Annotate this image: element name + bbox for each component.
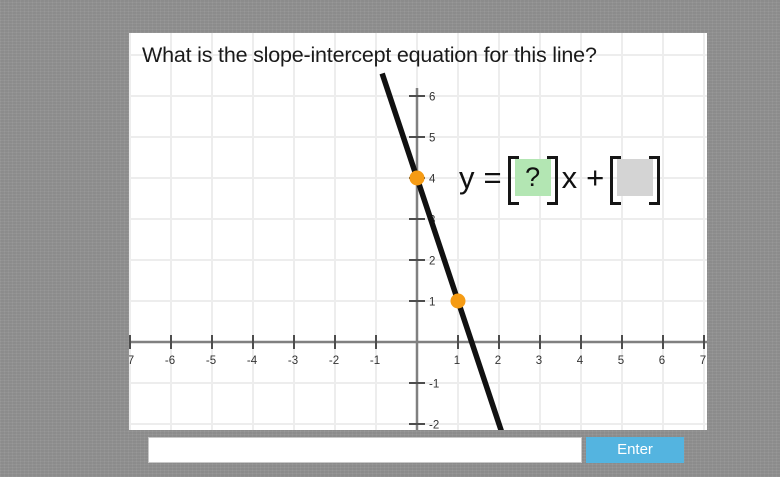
svg-text:6: 6 [659, 355, 665, 367]
svg-text:1: 1 [454, 355, 460, 367]
question-panel: -7-6-5-4-3-2-11234567654321-1-2 What is … [129, 33, 707, 430]
svg-text:-2: -2 [329, 355, 339, 367]
svg-text:-6: -6 [165, 355, 175, 367]
coordinate-graph: -7-6-5-4-3-2-11234567654321-1-2 [129, 33, 707, 430]
svg-text:2: 2 [429, 256, 435, 268]
svg-text:-3: -3 [288, 355, 298, 367]
equation-variable: x [562, 160, 578, 196]
svg-text:-2: -2 [429, 420, 439, 431]
svg-text:-1: -1 [370, 355, 380, 367]
svg-text:5: 5 [429, 133, 435, 145]
enter-button[interactable]: Enter [586, 437, 684, 463]
page-title: What is the slope-intercept equation for… [142, 43, 597, 68]
equation-equals-sign: = [484, 160, 502, 196]
svg-text:-7: -7 [129, 355, 134, 367]
svg-text:3: 3 [536, 355, 542, 367]
answer-input[interactable] [148, 437, 582, 463]
svg-text:-1: -1 [429, 379, 439, 391]
slope-answer-slot[interactable]: ? [515, 159, 551, 196]
svg-text:4: 4 [429, 174, 436, 186]
equation-display: y = ? x + [459, 159, 655, 196]
intercept-answer-slot[interactable] [617, 159, 653, 196]
equation-plus-sign: + [586, 160, 604, 196]
svg-text:-4: -4 [247, 355, 258, 367]
svg-text:5: 5 [618, 355, 624, 367]
equation-lhs: y [459, 160, 475, 196]
svg-text:-5: -5 [206, 355, 216, 367]
svg-text:4: 4 [577, 355, 584, 367]
svg-text:1: 1 [429, 297, 435, 309]
svg-text:6: 6 [429, 92, 435, 104]
plotted-line [382, 73, 505, 430]
svg-text:7: 7 [700, 355, 706, 367]
svg-text:2: 2 [495, 355, 501, 367]
answer-bar: Enter [148, 437, 684, 463]
